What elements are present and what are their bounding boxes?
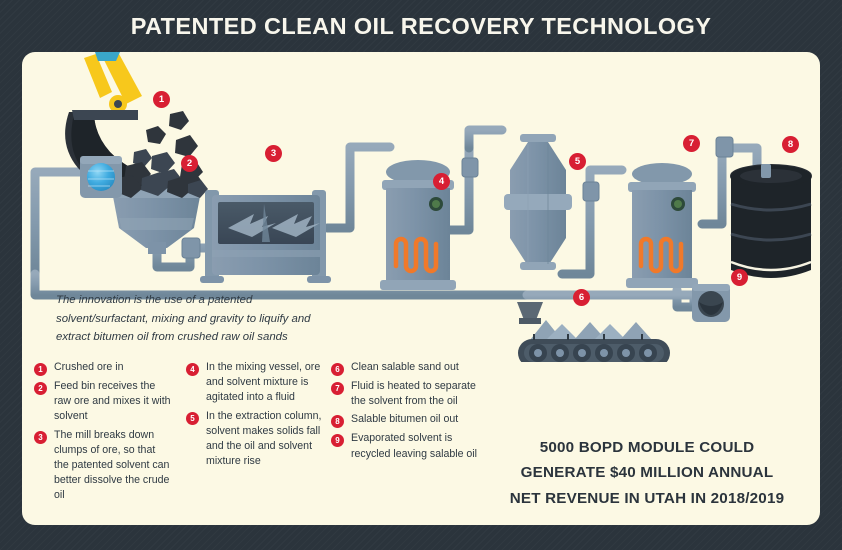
legend-text-6: Clean salable sand out	[351, 360, 491, 375]
legend-badge-8: 8	[331, 415, 344, 428]
legend-item-9: 9 Evaporated solvent is recycled leaving…	[331, 431, 498, 461]
revenue-statement: 5000 BOPD MODULE COULD GENERATE $40 MILL…	[488, 435, 806, 512]
marker-4: 4	[433, 173, 450, 190]
mill	[200, 190, 331, 283]
legend-text-3: The mill breaks down clumps of ore, so t…	[54, 428, 172, 504]
legend-badge-9: 9	[331, 434, 344, 447]
marker-5: 5	[569, 153, 586, 170]
innovation-note: The innovation is the use of a patented …	[56, 291, 346, 347]
legend-text-4: In the mixing vessel, ore and solvent mi…	[206, 360, 323, 406]
legend-badge-5: 5	[186, 412, 199, 425]
legend-item-2: 2 Feed bin receives the raw ore and mixe…	[34, 379, 178, 425]
legend-badge-1: 1	[34, 363, 47, 376]
fitting-barrel-inlet	[716, 137, 733, 157]
sand-conveyor	[517, 302, 670, 362]
extraction-column-top-flange	[520, 134, 556, 142]
page-title: PATENTED CLEAN OIL RECOVERY TECHNOLOGY	[0, 13, 842, 40]
ore-chunk	[146, 126, 166, 144]
legend-text-9: Evaporated solvent is recycled leaving s…	[351, 431, 491, 461]
legend-column-2: 4 In the mixing vessel, ore and solvent …	[186, 360, 331, 507]
sand-piles	[530, 320, 652, 340]
heater-vessel-gauge-face	[674, 200, 682, 208]
marker-9: 9	[731, 269, 748, 286]
pipe-mill-to-vessel	[327, 147, 390, 228]
marker-2: 2	[181, 155, 198, 172]
legend-text-2: Feed bin receives the raw ore and mixes …	[54, 379, 172, 425]
mill-foot-left	[200, 276, 224, 283]
legend-badge-2: 2	[34, 382, 47, 395]
recycle-valve-top	[692, 284, 730, 291]
marker-3: 3	[265, 145, 282, 162]
extraction-column-bottom-flange	[520, 262, 556, 270]
legend-item-3: 3 The mill breaks down clumps of ore, so…	[34, 428, 178, 504]
legend-text-7: Fluid is heated to separate the solvent …	[351, 379, 491, 409]
solvent-recycle-valve	[692, 284, 730, 322]
fitting-heater-inlet	[583, 182, 599, 201]
excavator-hydraulic	[95, 52, 120, 61]
legend-item-1: 1 Crushed ore in	[34, 360, 178, 376]
legend: 1 Crushed ore in 2 Feed bin receives the…	[34, 360, 514, 507]
heater-vessel	[626, 163, 698, 288]
feed-bin-outlet	[148, 242, 166, 254]
legend-badge-3: 3	[34, 431, 47, 444]
ore-chunk	[175, 135, 198, 157]
sand-chute	[517, 302, 543, 320]
legend-badge-4: 4	[186, 363, 199, 376]
extraction-column-band	[504, 194, 572, 210]
legend-badge-6: 6	[331, 363, 344, 376]
marker-7: 7	[683, 135, 700, 152]
mixing-vessel-gauge-face	[432, 200, 440, 208]
legend-item-4: 4 In the mixing vessel, ore and solvent …	[186, 360, 323, 406]
sand-chute-mouth	[519, 318, 541, 324]
solvent-valve	[80, 156, 122, 198]
legend-text-8: Salable bitumen oil out	[351, 412, 491, 427]
fitting-bin-outlet	[182, 238, 200, 258]
pipe-left-riser	[35, 172, 80, 274]
mill-foot-right	[307, 276, 331, 283]
extraction-column	[504, 134, 572, 270]
excavator-bucket-top	[72, 110, 138, 120]
legend-text-1: Crushed ore in	[54, 360, 172, 375]
legend-item-7: 7 Fluid is heated to separate the solven…	[331, 379, 498, 409]
heater-vessel-base	[626, 278, 698, 288]
legend-item-8: 8 Salable bitumen oil out	[331, 412, 498, 428]
oil-barrel	[731, 164, 811, 278]
fitting-column-inlet	[462, 158, 478, 177]
solvent-sphere-icon	[87, 163, 115, 191]
marker-1: 1	[153, 91, 170, 108]
mill-band	[212, 250, 320, 257]
oil-barrel-body	[731, 176, 811, 278]
revenue-line-3: NET REVENUE IN UTAH IN 2018/2019	[488, 486, 806, 512]
marker-8: 8	[782, 136, 799, 153]
feed-bin-band	[119, 218, 194, 230]
solvent-valve-top	[80, 156, 122, 164]
oil-barrel-fill-spout	[761, 164, 771, 178]
legend-item-5: 5 In the extraction column, solvent make…	[186, 409, 323, 470]
revenue-line-2: GENERATE $40 MILLION ANNUAL	[488, 460, 806, 486]
ore-chunk	[169, 111, 189, 130]
legend-text-5: In the extraction column, solvent makes …	[206, 409, 323, 470]
heater-vessel-dome	[632, 163, 692, 185]
legend-column-1: 1 Crushed ore in 2 Feed bin receives the…	[34, 360, 186, 507]
mixing-vessel-base	[380, 280, 456, 290]
pipe-vessel-to-column-top	[469, 130, 502, 148]
legend-column-3: 6 Clean salable sand out 7 Fluid is heat…	[331, 360, 506, 507]
infographic-card: 1 2 3 4 5 6 7 8 9 The innovation is the …	[22, 52, 820, 525]
revenue-line-1: 5000 BOPD MODULE COULD	[488, 435, 806, 461]
legend-item-6: 6 Clean salable sand out	[331, 360, 498, 376]
pipe-bottom-return-right	[527, 295, 694, 307]
legend-badge-7: 7	[331, 382, 344, 395]
excavator-pivot-center	[114, 100, 122, 108]
marker-6: 6	[573, 289, 590, 306]
